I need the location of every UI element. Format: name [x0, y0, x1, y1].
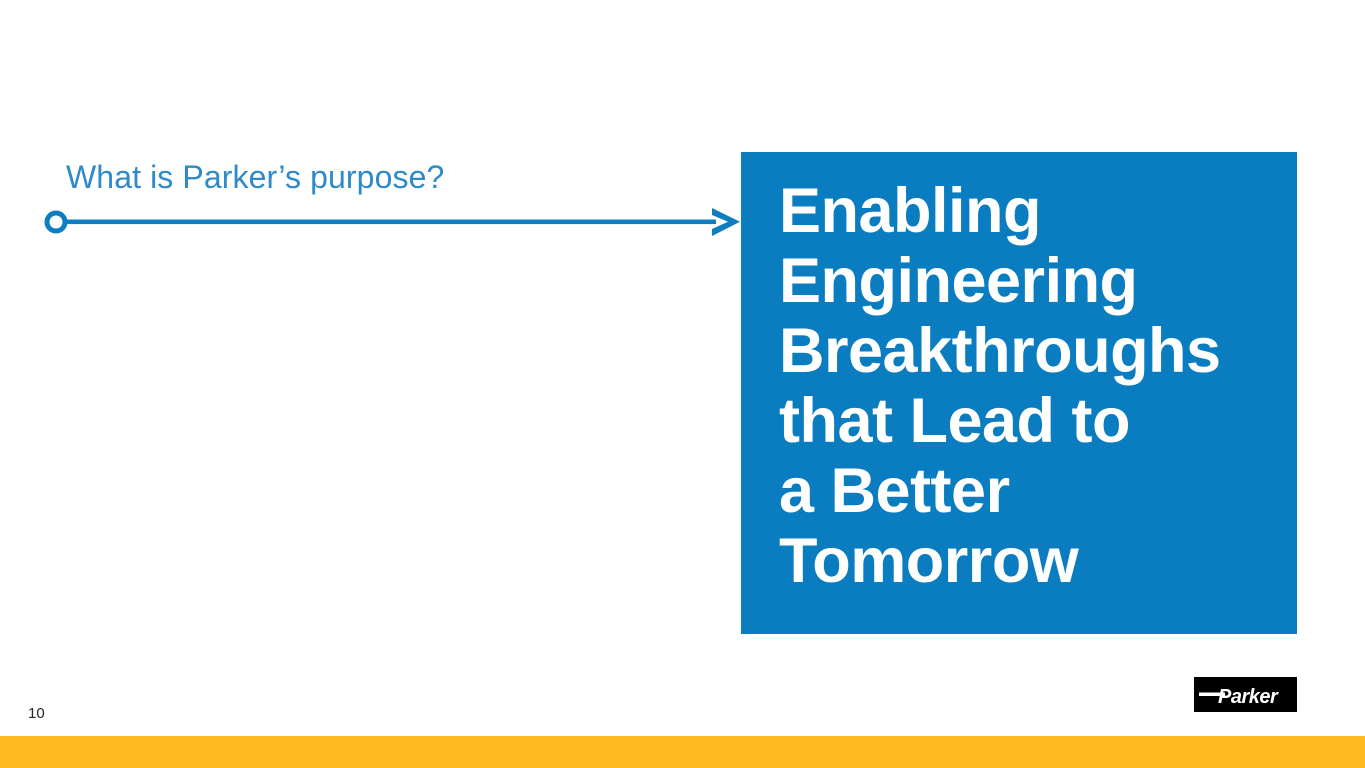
statement-line-3: Breakthroughs	[779, 316, 1291, 386]
slide-canvas: What is Parker’s purpose? Enabling Engin…	[0, 0, 1365, 768]
statement-text: Enabling Engineering Breakthroughs that …	[779, 176, 1291, 596]
arrow-right-icon	[712, 208, 740, 236]
statement-line-5: a Better	[779, 456, 1291, 526]
statement-line-1: Enabling	[779, 176, 1291, 246]
page-number: 10	[28, 706, 45, 721]
horizontal-connector-line	[65, 220, 716, 225]
statement-line-4: that Lead to	[779, 386, 1291, 456]
question-label: What is Parker’s purpose?	[66, 159, 444, 196]
statement-line-2: Engineering	[779, 246, 1291, 316]
statement-line-6: Tomorrow	[779, 526, 1291, 596]
bottom-accent-bar	[0, 736, 1365, 768]
parker-logo-icon: Parker	[1194, 677, 1297, 712]
circle-marker-icon	[47, 213, 65, 231]
svg-text:Parker: Parker	[1218, 686, 1279, 708]
statement-panel: Enabling Engineering Breakthroughs that …	[741, 152, 1297, 634]
connector-graphic	[40, 198, 750, 248]
